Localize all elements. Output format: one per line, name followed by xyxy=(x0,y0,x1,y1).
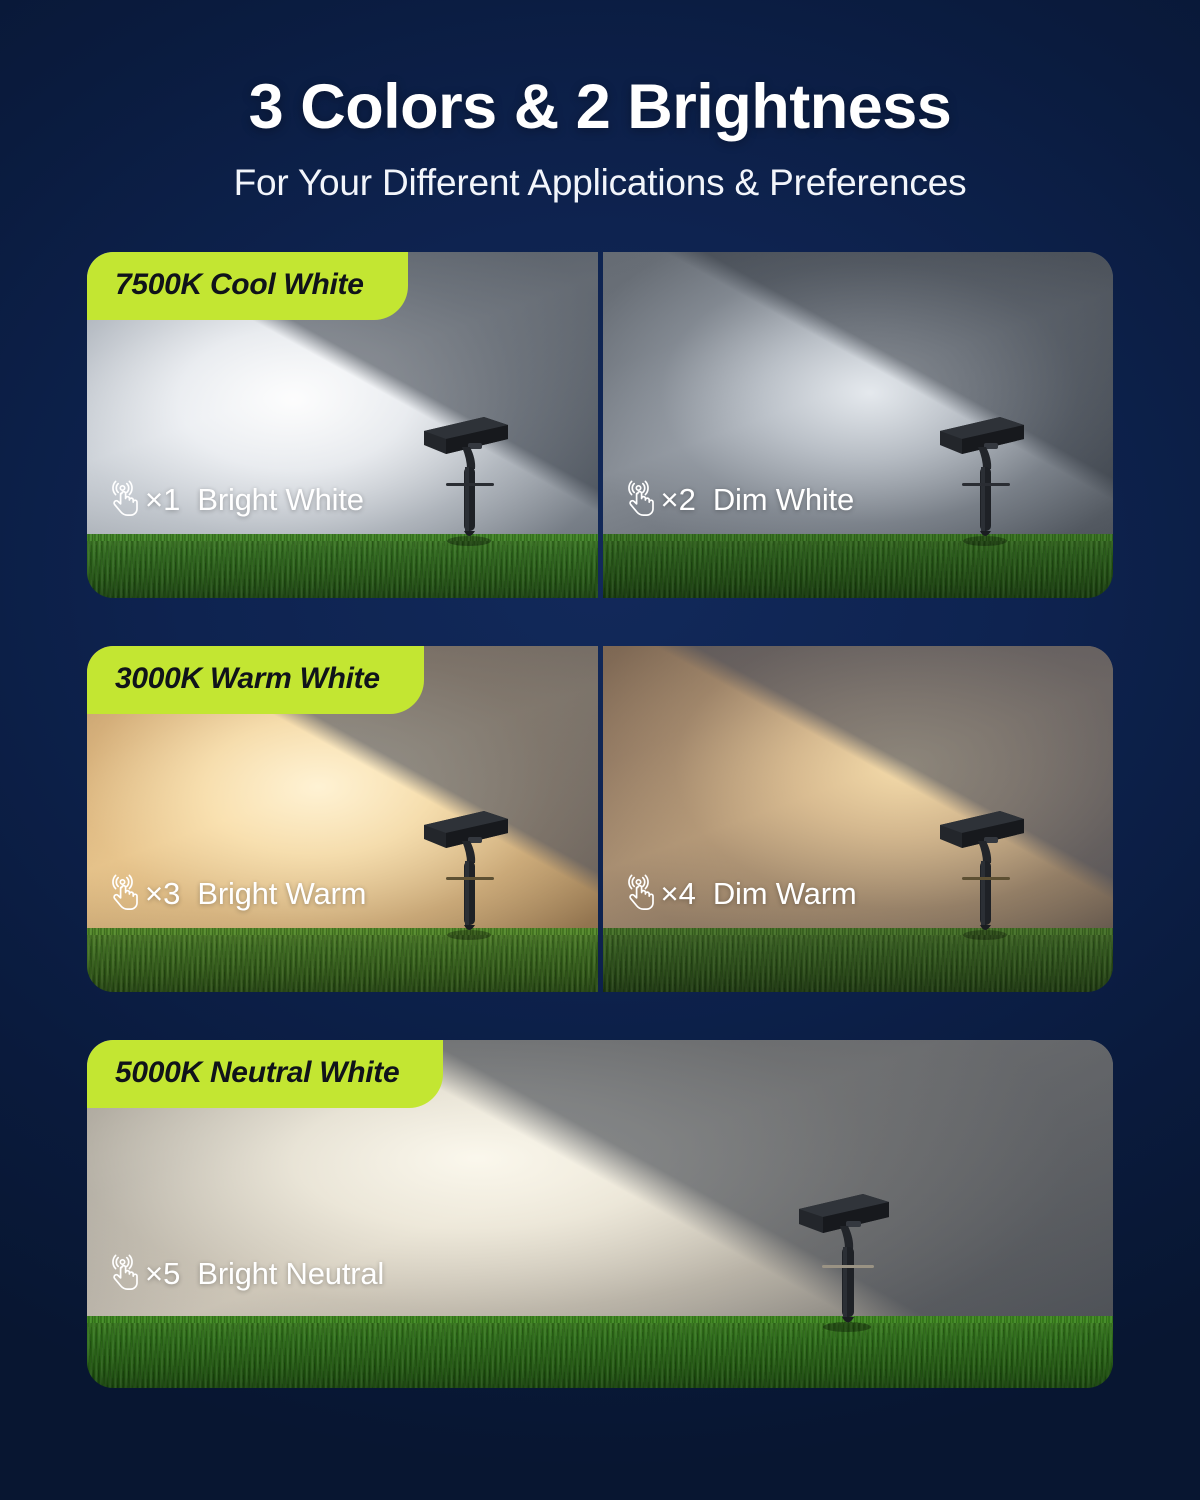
spotlight-svg xyxy=(412,399,522,549)
caption-bright-white: ×1 Bright White xyxy=(109,480,364,520)
panel-dim-warm[interactable]: ×4 Dim Warm xyxy=(603,646,1114,992)
caption-bright-warm: ×3 Bright Warm xyxy=(109,874,366,914)
solar-spotlight xyxy=(412,793,522,948)
caption-bright-neutral: ×5 Bright Neutral xyxy=(109,1254,384,1294)
card-cool-white: ×1 Bright White xyxy=(87,252,1113,598)
card-neutral-white: ×5 Bright Neutral 5000K Neutral White xyxy=(87,1040,1113,1388)
press-count: ×1 xyxy=(145,482,180,518)
mode-label: Dim Warm xyxy=(713,876,857,912)
solar-spotlight xyxy=(412,399,522,554)
tap-hand-icon xyxy=(109,1254,143,1294)
page-subtitle: For Your Different Applications & Prefer… xyxy=(0,162,1200,204)
grass-strip xyxy=(87,1316,1113,1388)
spotlight-svg xyxy=(412,793,522,943)
press-count: ×4 xyxy=(661,876,696,912)
tap-hand-icon xyxy=(625,480,659,520)
press-count: ×3 xyxy=(145,876,180,912)
badge-cool-white: 7500K Cool White xyxy=(87,252,408,320)
card-warm-white: ×3 Bright Warm xyxy=(87,646,1113,992)
press-count: ×2 xyxy=(661,482,696,518)
caption-dim-warm: ×4 Dim Warm xyxy=(625,874,857,914)
header: 3 Colors & 2 Brightness For Your Differe… xyxy=(0,0,1200,204)
mode-label: Bright White xyxy=(197,482,363,518)
spotlight-svg xyxy=(928,793,1038,943)
solar-spotlight xyxy=(928,399,1038,554)
spotlight-svg xyxy=(928,399,1038,549)
badge-neutral-white: 5000K Neutral White xyxy=(87,1040,443,1108)
badge-warm-white: 3000K Warm White xyxy=(87,646,424,714)
tap-hand-icon xyxy=(109,480,143,520)
press-count: ×5 xyxy=(145,1256,180,1292)
mode-label: Bright Warm xyxy=(197,876,366,912)
solar-spotlight xyxy=(787,1175,903,1340)
solar-spotlight xyxy=(928,793,1038,948)
mode-label: Dim White xyxy=(713,482,854,518)
color-mode-cards: ×1 Bright White xyxy=(0,252,1200,1388)
caption-dim-white: ×2 Dim White xyxy=(625,480,855,520)
spotlight-svg xyxy=(787,1175,903,1335)
tap-hand-icon xyxy=(109,874,143,914)
tap-hand-icon xyxy=(625,874,659,914)
page-title: 3 Colors & 2 Brightness xyxy=(0,74,1200,140)
mode-label: Bright Neutral xyxy=(197,1256,384,1292)
panel-dim-white[interactable]: ×2 Dim White xyxy=(603,252,1114,598)
